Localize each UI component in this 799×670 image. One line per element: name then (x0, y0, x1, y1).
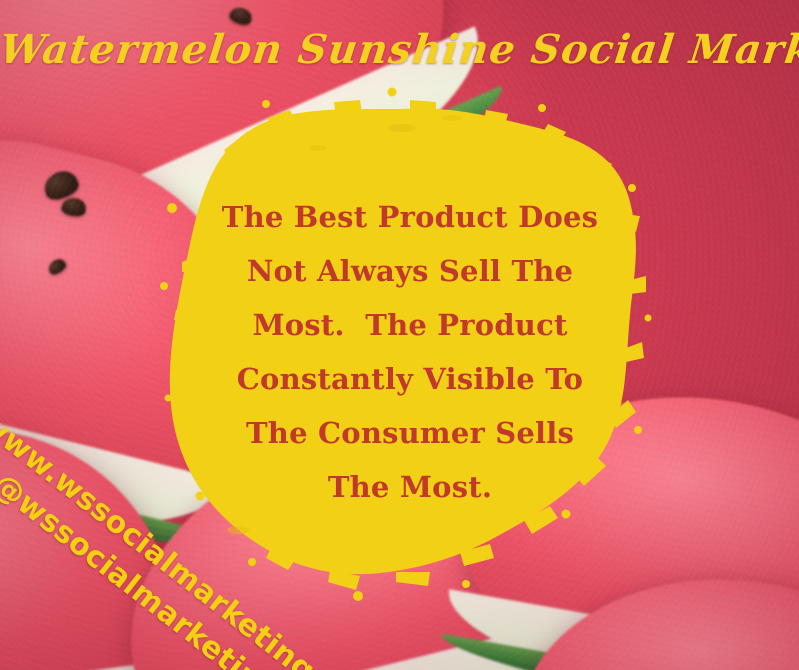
splat-droplet (160, 282, 168, 290)
quote-line: The Best Product Does (206, 190, 614, 244)
splat-droplet (165, 395, 172, 402)
page-title: Watermelon Sunshine Social Marketing (0, 26, 799, 73)
splat-fleck (626, 342, 644, 362)
splat-droplet (262, 100, 270, 108)
quote-line: Constantly Visible To (206, 352, 614, 406)
quote-line: The Most. (206, 460, 614, 514)
splat-droplet (353, 591, 363, 601)
splat-thin-fleck (227, 526, 249, 534)
splat-droplet (634, 426, 642, 434)
splat-droplet (167, 203, 177, 213)
quote-line: Not Always Sell The (206, 244, 614, 298)
splat-droplet (538, 104, 546, 112)
social-media-post: Watermelon Sunshine Social Marketing The… (0, 0, 799, 670)
splat-droplet (645, 315, 652, 322)
splat-fleck (396, 572, 430, 586)
splat-fleck (410, 100, 436, 114)
splat-droplet (388, 88, 397, 97)
splat-droplet (248, 558, 256, 566)
splat-droplet (462, 580, 470, 588)
splat-droplet (196, 492, 205, 501)
quote-text-block: The Best Product Does Not Always Sell Th… (206, 190, 614, 514)
quote-line: The Consumer Sells (206, 406, 614, 460)
splat-thin-fleck (388, 124, 416, 132)
quote-line: Most. The Product (206, 298, 614, 352)
splat-droplet (628, 184, 636, 192)
splat-thin-fleck (309, 145, 327, 151)
splat-thin-fleck (442, 115, 462, 121)
